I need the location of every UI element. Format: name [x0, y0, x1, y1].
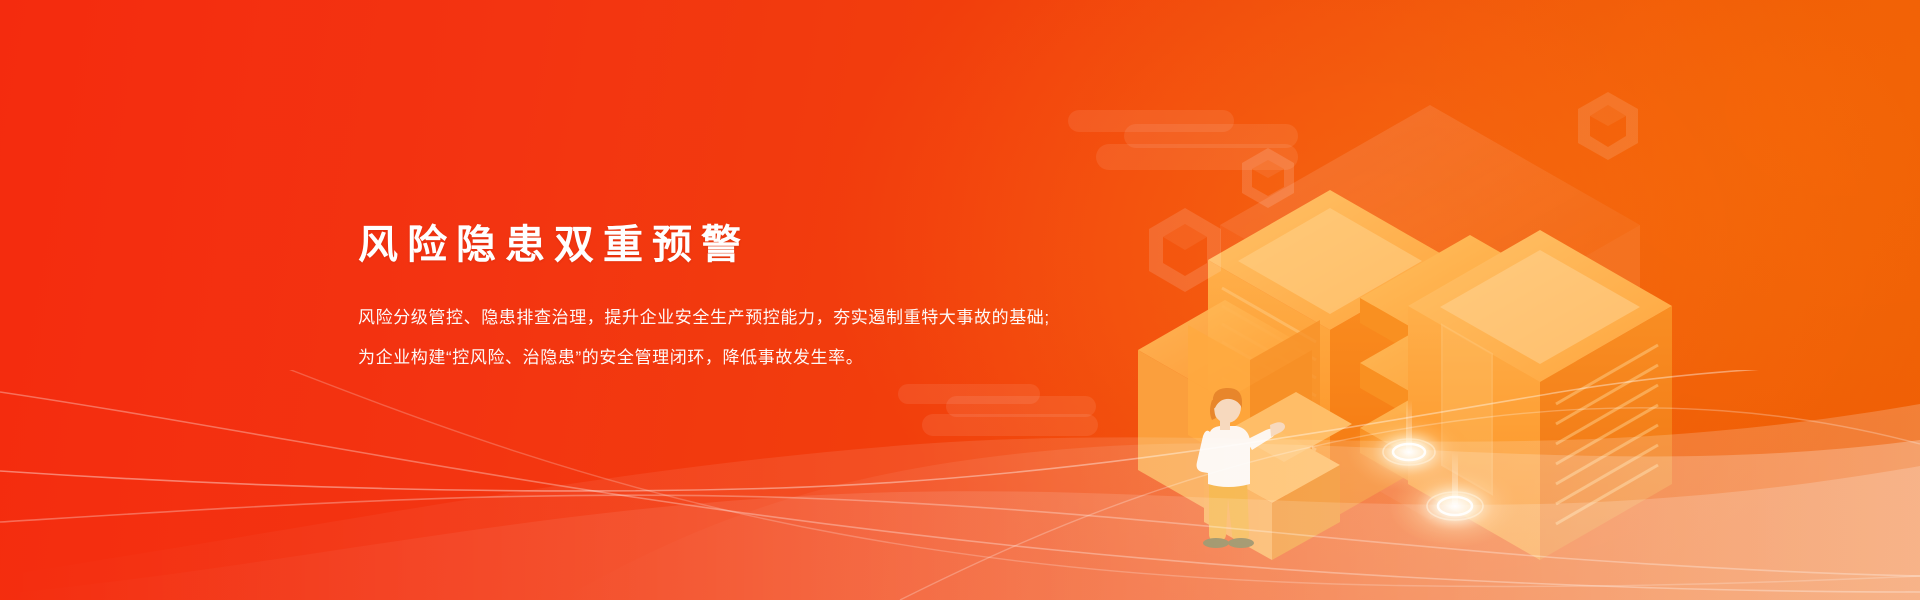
rack-right-face — [1330, 260, 1452, 520]
figure-arm — [1246, 429, 1275, 450]
cloud-motif-lower — [898, 384, 1098, 436]
wave-decoration — [0, 370, 1920, 600]
front-rack-top-inner — [1440, 250, 1640, 364]
server-rack-front — [1408, 230, 1672, 560]
wave-line-1 — [0, 370, 1920, 491]
plate-3 — [1360, 365, 1580, 516]
rack-slot-lines — [1222, 288, 1316, 468]
banner-subtitle: 风险分级管控、隐患排查治理，提升企业安全生产预控能力，夯实遏制重特大事故的基础;… — [358, 272, 1050, 378]
figure-pants — [1209, 478, 1249, 540]
low-platform-block — [1188, 320, 1320, 470]
front-rack-left — [1408, 306, 1540, 560]
figure-neck — [1220, 418, 1230, 430]
rack-left-face — [1208, 260, 1330, 520]
box-right — [1272, 465, 1340, 560]
wave-line-4 — [260, 370, 1920, 587]
rack-top — [1208, 190, 1452, 330]
box-flap — [1228, 392, 1352, 462]
plate-2 — [1360, 300, 1580, 451]
figure-head — [1213, 391, 1241, 423]
rack-door-panel — [1442, 325, 1492, 494]
wave-fill-2 — [0, 466, 1920, 600]
figure-shoe-right — [1228, 538, 1254, 548]
figure-shoe-left — [1203, 538, 1229, 548]
cloud-motif-upper — [1068, 110, 1298, 170]
ghost-cube-top — [1220, 105, 1640, 345]
glow-light-node-lower — [1389, 452, 1521, 548]
glow-light-node-upper — [1347, 400, 1471, 492]
plate-1 — [1360, 235, 1580, 386]
figure-shirt — [1197, 426, 1250, 487]
box-left — [1204, 465, 1272, 560]
wave-line-5 — [900, 408, 1920, 600]
ghost-cube-left — [1220, 225, 1430, 520]
hexagon-cube-small — [1242, 148, 1294, 208]
front-rack-slot-lines — [1556, 345, 1658, 524]
person-pointing-figure — [1197, 388, 1285, 548]
foreground-open-box — [1204, 392, 1352, 560]
wave-line-2 — [0, 392, 1920, 592]
subtitle-line-2: 为企业构建“控风险、治隐患”的安全管理闭环，降低事故发生率。 — [358, 338, 1050, 378]
page-title: 风险隐患双重预警 — [358, 218, 1050, 272]
rack-top-inner — [1238, 208, 1422, 314]
front-rack-top — [1408, 230, 1672, 382]
stacked-plates-group — [1360, 235, 1580, 516]
ghost-cube-right — [1430, 225, 1640, 520]
wave-fill-3 — [560, 440, 1920, 600]
front-rack-right — [1540, 306, 1672, 560]
banner-copy: 风险隐患双重预警 风险分级管控、隐患排查治理，提升企业安全生产预控能力，夯实遏制… — [358, 218, 1050, 378]
wave-line-3 — [0, 495, 1920, 576]
box-lid — [1204, 427, 1340, 503]
hero-banner: 风险隐患双重预警 风险分级管控、隐患排查治理，提升企业安全生产预控能力，夯实遏制… — [0, 0, 1920, 600]
subtitle-line-1: 风险分级管控、隐患排查治理，提升企业安全生产预控能力，夯实遏制重特大事故的基础; — [358, 298, 1050, 338]
server-rack-back — [1208, 190, 1452, 520]
wave-fill-1 — [0, 404, 1920, 600]
figure-hand — [1270, 422, 1285, 437]
hexagon-cube-top-right — [1578, 92, 1638, 160]
hexagon-cube-medium — [1149, 208, 1221, 292]
figure-hair-back — [1210, 400, 1216, 420]
ghost-block-group — [1220, 105, 1640, 520]
server-rack-left-small — [1138, 300, 1312, 520]
figure-hair — [1213, 388, 1242, 408]
